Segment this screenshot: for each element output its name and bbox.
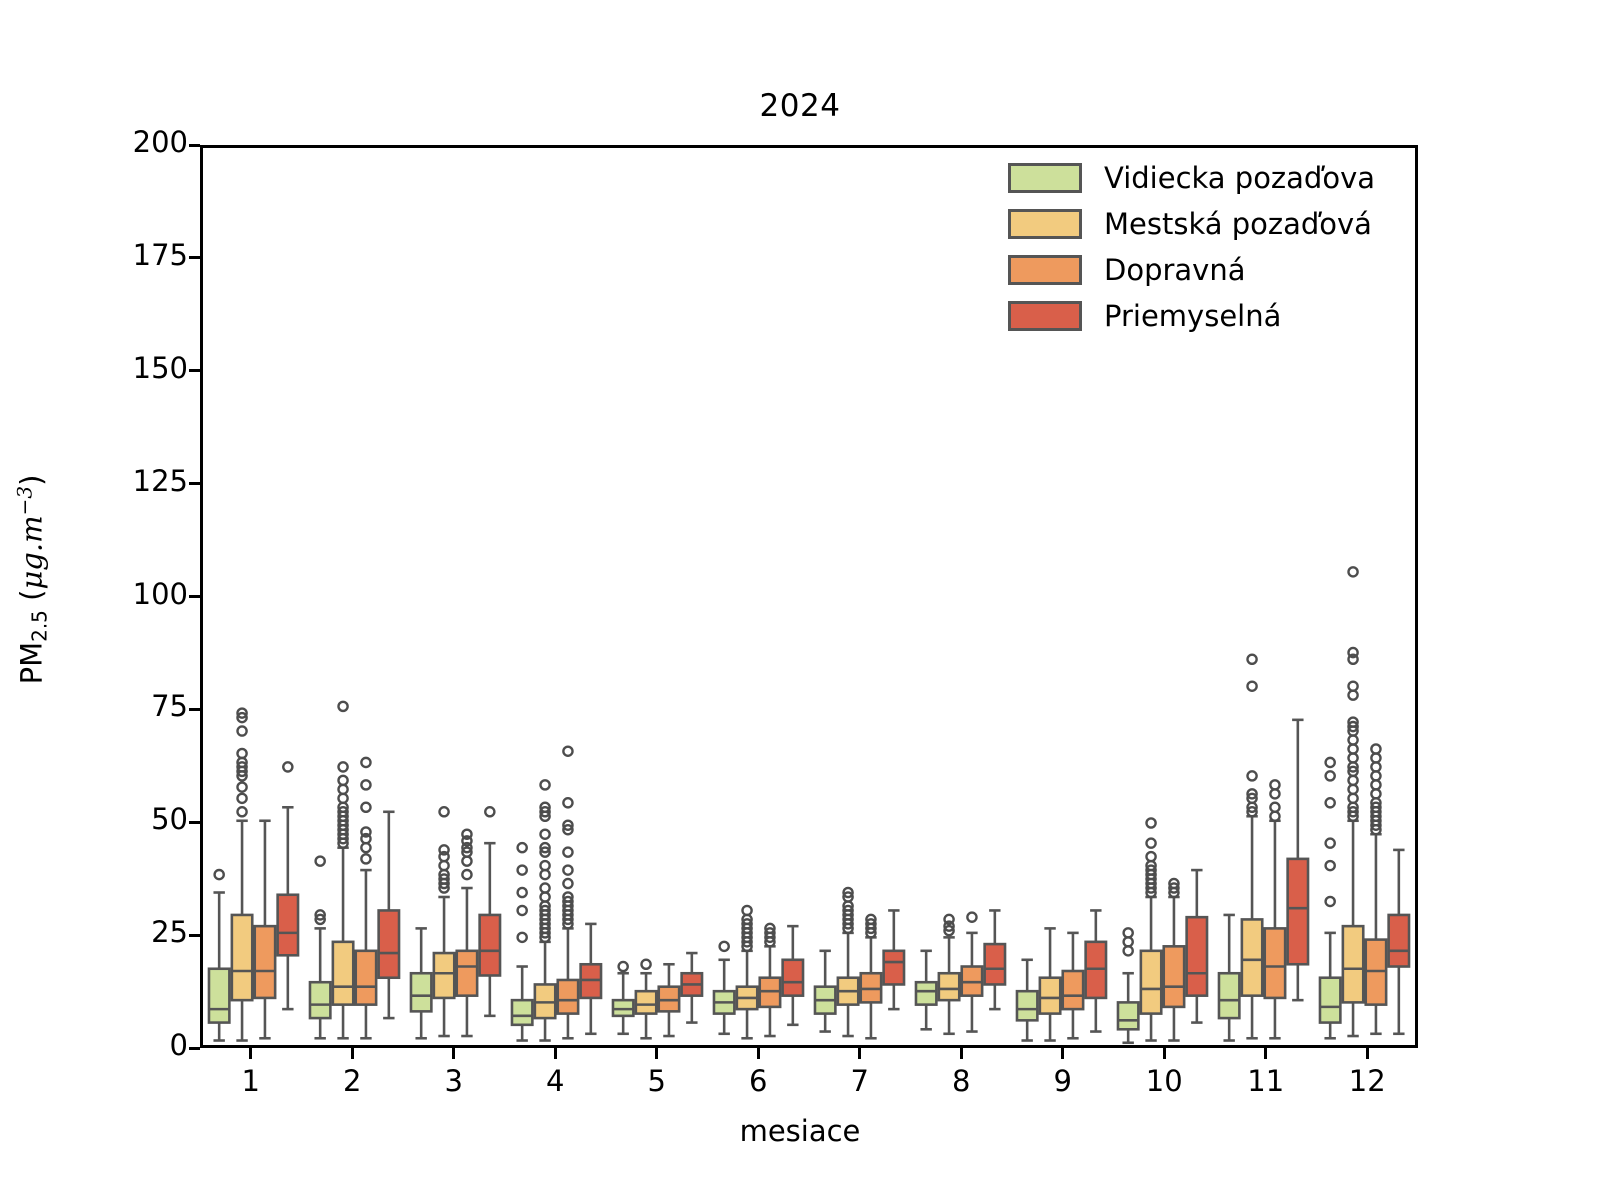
box-group-2-s3 [356, 758, 376, 1038]
box-group-3-s3 [457, 830, 477, 1036]
legend: Vidiecka pozaďоvaMestská pozaďováDopravn… [1008, 160, 1375, 334]
x-axis-label: mesiace [0, 1114, 1600, 1148]
outlier-point [1371, 780, 1380, 789]
box-group-4-s3 [558, 747, 578, 1039]
outlier-point [1270, 789, 1279, 798]
box-group-11-s4 [1288, 720, 1308, 1000]
x-tick-mark [757, 1048, 760, 1059]
outlier-point [439, 861, 448, 870]
box [434, 953, 454, 998]
box-group-2-s2 [333, 702, 353, 1038]
box-group-10-s1 [1118, 928, 1138, 1042]
x-tick-label: 1 [221, 1064, 281, 1098]
outlier-point [1146, 852, 1155, 861]
x-tick-mark [1061, 1048, 1064, 1059]
box-group-7-s4 [884, 910, 904, 1009]
legend-label: Mestská pozaďová [1104, 210, 1372, 239]
outlier-point [283, 762, 292, 771]
x-tick-mark [351, 1048, 354, 1059]
box [1040, 978, 1060, 1014]
outlier-point [1146, 818, 1155, 827]
box-group-10-s2 [1141, 818, 1161, 1040]
y-tick-mark [189, 256, 200, 259]
outlier-point [361, 758, 370, 767]
box [985, 944, 1005, 984]
outlier-point [540, 830, 549, 839]
box [916, 982, 936, 1004]
legend-swatch-icon [1008, 163, 1082, 193]
box-group-6-s1 [714, 942, 734, 1034]
outlier-point [462, 870, 471, 879]
legend-swatch-icon [1008, 301, 1082, 331]
outlier-point [1371, 789, 1380, 798]
x-tick-mark [452, 1048, 455, 1059]
box-group-7-s1 [815, 951, 835, 1032]
box-group-5-s4 [682, 953, 702, 1023]
y-tick-label: 200 [133, 125, 188, 159]
y-tick-mark [189, 482, 200, 485]
legend-swatch-icon [1008, 255, 1082, 285]
y-tick-label: 50 [151, 802, 188, 836]
outlier-point [237, 783, 246, 792]
x-tick-label: 11 [1236, 1064, 1296, 1098]
box [1118, 1002, 1138, 1029]
outlier-point [1348, 735, 1357, 744]
box [1063, 971, 1083, 1009]
x-tick-mark [1366, 1048, 1369, 1059]
y-tick-label: 0 [170, 1028, 188, 1062]
box [1288, 859, 1308, 964]
outlier-point [338, 762, 347, 771]
box-group-9-s1 [1017, 960, 1037, 1041]
outlier-point [361, 843, 370, 852]
box-group-5-s2 [636, 960, 656, 1039]
x-tick-label: 2 [322, 1064, 382, 1098]
box-group-4-s1 [512, 843, 532, 1040]
box-group-2-s4 [379, 812, 399, 1018]
box [1187, 917, 1207, 995]
outlier-point [1348, 785, 1357, 794]
y-tick-label: 75 [151, 689, 188, 723]
box-group-12-s1 [1320, 758, 1340, 1038]
outlier-point [1371, 744, 1380, 753]
y-tick-mark [189, 821, 200, 824]
outlier-point [518, 906, 527, 915]
outlier-point [1326, 897, 1335, 906]
x-tick-label: 7 [830, 1064, 890, 1098]
outlier-point [237, 794, 246, 803]
chart-title: 2024 [0, 88, 1600, 124]
outlier-point [1326, 758, 1335, 767]
box-group-11-s3 [1265, 780, 1285, 1038]
y-tick-label: 175 [133, 238, 188, 272]
outlier-point [563, 747, 572, 756]
outlier-point [540, 861, 549, 870]
box-group-6-s3 [760, 924, 780, 1036]
y-tick-mark [189, 1047, 200, 1050]
outlier-point [1371, 753, 1380, 762]
box-group-5-s3 [659, 964, 679, 1036]
outlier-point [540, 892, 549, 901]
legend-item-4[interactable]: Priemyselná [1008, 298, 1375, 334]
y-tick-mark [189, 595, 200, 598]
outlier-point [361, 854, 370, 863]
outlier-point [215, 870, 224, 879]
box-group-2-s1 [310, 857, 330, 1039]
x-tick-label: 12 [1337, 1064, 1397, 1098]
x-tick-label: 8 [931, 1064, 991, 1098]
outlier-point [1247, 771, 1256, 780]
outlier-point [1146, 839, 1155, 848]
outlier-point [518, 866, 527, 875]
outlier-point [1326, 861, 1335, 870]
y-axis-label-units: μg.m [15, 515, 49, 589]
y-axis-label-open: ( [15, 590, 49, 611]
box [333, 942, 353, 1005]
x-tick-label: 9 [1033, 1064, 1093, 1098]
x-tick-label: 4 [525, 1064, 585, 1098]
box [783, 960, 803, 996]
box-group-8-s3 [962, 913, 982, 1032]
y-tick-mark [189, 934, 200, 937]
outlier-point [1326, 771, 1335, 780]
outlier-point [338, 702, 347, 711]
outlier-point [338, 794, 347, 803]
x-tick-label: 5 [627, 1064, 687, 1098]
legend-item-3[interactable]: Dopravná [1008, 252, 1375, 288]
outlier-point [1326, 798, 1335, 807]
box-group-1-s3 [255, 821, 275, 1039]
outlier-point [316, 857, 325, 866]
legend-item-1[interactable]: Vidiecka pozaďоva [1008, 160, 1375, 196]
y-tick-label: 100 [133, 577, 188, 611]
box [939, 973, 959, 1000]
x-tick-mark [1163, 1048, 1166, 1059]
outlier-point [518, 888, 527, 897]
x-tick-mark [249, 1048, 252, 1059]
outlier-point [1124, 937, 1133, 946]
x-tick-label: 10 [1134, 1064, 1194, 1098]
outlier-point [1247, 682, 1256, 691]
legend-swatch-icon [1008, 209, 1082, 239]
x-tick-mark [960, 1048, 963, 1059]
y-axis-label: PM2.5 (μg.m−3) [13, 260, 52, 900]
outlier-point [361, 803, 370, 812]
y-axis-label-pm: PM [15, 642, 49, 685]
box-group-8-s4 [985, 910, 1005, 1009]
box-group-7-s2 [838, 888, 858, 1036]
box-group-3-s4 [480, 807, 500, 1016]
box [1219, 973, 1239, 1018]
box [884, 951, 904, 985]
box-group-11-s1 [1219, 915, 1239, 1041]
box-group-3-s2 [434, 807, 454, 1036]
box-group-1-s2 [232, 709, 252, 1041]
outlier-point [1348, 567, 1357, 576]
x-tick-mark [655, 1048, 658, 1059]
box-group-6-s2 [737, 906, 757, 1038]
x-tick-mark [554, 1048, 557, 1059]
box [1389, 915, 1409, 967]
box-group-12-s3 [1366, 744, 1386, 1033]
outlier-point [1124, 946, 1133, 955]
outlier-point [439, 807, 448, 816]
y-tick-label: 25 [151, 915, 188, 949]
box-group-12-s2 [1343, 567, 1363, 1036]
x-tick-label: 6 [728, 1064, 788, 1098]
outlier-point [1348, 682, 1357, 691]
legend-label: Priemyselná [1104, 302, 1281, 331]
box-group-9-s2 [1040, 928, 1060, 1040]
y-tick-mark [189, 369, 200, 372]
outlier-point [485, 807, 494, 816]
outlier-point [1348, 753, 1357, 762]
box [480, 915, 500, 976]
outlier-point [1371, 771, 1380, 780]
outlier-point [563, 879, 572, 888]
box [356, 951, 376, 1005]
outlier-point [1270, 780, 1279, 789]
outlier-point [1270, 803, 1279, 812]
outlier-point [720, 942, 729, 951]
box-group-6-s4 [783, 926, 803, 1025]
x-tick-label: 3 [424, 1064, 484, 1098]
y-axis-label-superscript: −3 [13, 486, 37, 515]
legend-label: Vidiecka pozaďоva [1104, 164, 1375, 193]
outlier-point [641, 960, 650, 969]
box-group-4-s4 [581, 924, 601, 1034]
box [1141, 951, 1161, 1014]
box-group-8-s2 [939, 915, 959, 1034]
outlier-point [518, 843, 527, 852]
box-group-1-s1 [209, 870, 229, 1041]
box-group-9-s3 [1063, 933, 1083, 1038]
box [1343, 926, 1363, 1002]
x-tick-mark [1264, 1048, 1267, 1059]
box-group-11-s2 [1242, 655, 1262, 1039]
box [411, 973, 431, 1011]
box-group-10-s3 [1164, 879, 1184, 1041]
outlier-point [540, 870, 549, 879]
y-axis-label-subscript: 2.5 [28, 610, 52, 642]
outlier-point [338, 785, 347, 794]
box [209, 969, 229, 1023]
outlier-point [237, 726, 246, 735]
outlier-point [361, 780, 370, 789]
box-group-4-s2 [535, 780, 555, 1040]
box-group-9-s4 [1086, 910, 1106, 1031]
box [558, 980, 578, 1014]
y-tick-mark [189, 708, 200, 711]
outlier-point [237, 807, 246, 816]
outlier-point [338, 776, 347, 785]
outlier-point [967, 913, 976, 922]
box [379, 910, 399, 977]
figure: 2024 PM2.5 (μg.m−3) 02550751001251501752… [0, 0, 1600, 1200]
y-axis-label-close: ) [15, 475, 49, 486]
box [232, 915, 252, 1000]
outlier-point [1247, 655, 1256, 664]
outlier-point [1348, 794, 1357, 803]
outlier-point [1348, 744, 1357, 753]
box [636, 991, 656, 1013]
box-group-7-s3 [861, 915, 881, 1038]
outlier-point [619, 962, 628, 971]
box [1017, 991, 1037, 1020]
legend-item-2[interactable]: Mestská pozaďová [1008, 206, 1375, 242]
legend-label: Dopravná [1104, 256, 1246, 285]
outlier-point [462, 857, 471, 866]
box [1320, 978, 1340, 1023]
outlier-point [563, 866, 572, 875]
outlier-point [1348, 691, 1357, 700]
box [1242, 919, 1262, 995]
outlier-point [540, 883, 549, 892]
box [1164, 946, 1184, 1007]
outlier-point [563, 848, 572, 857]
outlier-point [237, 749, 246, 758]
outlier-point [1371, 762, 1380, 771]
y-tick-label: 125 [133, 464, 188, 498]
outlier-point [742, 906, 751, 915]
y-tick-label: 150 [133, 351, 188, 385]
box [512, 1000, 532, 1025]
outlier-point [1124, 928, 1133, 937]
outlier-point [1326, 839, 1335, 848]
outlier-point [518, 933, 527, 942]
y-tick-mark [189, 144, 200, 147]
box [1265, 928, 1285, 998]
box-group-10-s4 [1187, 870, 1207, 1022]
box [310, 982, 330, 1018]
box [457, 951, 477, 996]
box [278, 895, 298, 956]
x-tick-mark [858, 1048, 861, 1059]
box-group-12-s4 [1389, 850, 1409, 1034]
box-group-8-s1 [916, 951, 936, 1029]
outlier-point [1348, 776, 1357, 785]
box [255, 926, 275, 998]
box-group-3-s1 [411, 928, 431, 1038]
box-group-1-s4 [278, 762, 298, 1009]
outlier-point [563, 798, 572, 807]
box-group-5-s1 [613, 962, 633, 1034]
outlier-point [540, 780, 549, 789]
